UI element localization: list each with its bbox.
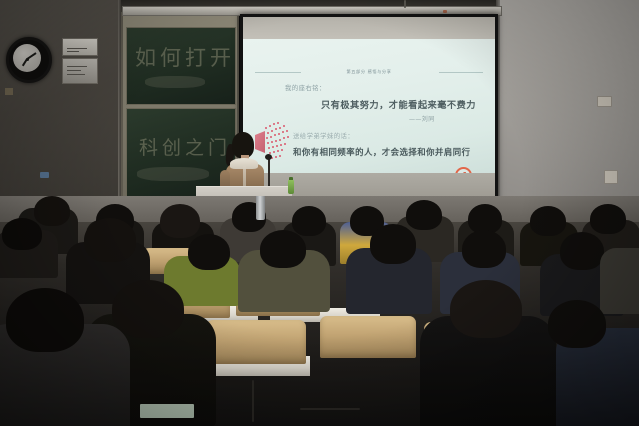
student-head [560, 232, 604, 270]
student-head [34, 196, 70, 226]
desk-cable [300, 408, 360, 410]
chalk-text-upper: 如何打开 [135, 42, 235, 72]
student-head [112, 280, 184, 338]
seat-back [320, 316, 416, 358]
slide-content: 第五部分 感悟与分享 我的座右铭： 只有极其努力，才能看起来毫不费力 ——刘同 … [243, 39, 495, 173]
housing-cable [404, 0, 406, 8]
right-wall [498, 0, 639, 214]
left-wall [0, 0, 120, 216]
wall-clock [6, 37, 52, 83]
clock-face [13, 44, 41, 72]
thermos-bottle [256, 196, 265, 220]
blackboard-panel-upper: 如何打开 [126, 27, 236, 105]
student-head [260, 230, 306, 268]
student-head [590, 204, 626, 234]
student-head [2, 218, 42, 250]
seat-back [206, 320, 306, 364]
student-head [548, 300, 606, 348]
student-body [600, 248, 639, 314]
audience-area [0, 196, 639, 426]
slide-attribution: ——刘同 [409, 114, 435, 123]
lecture-hall-photo: 如何打开 科创之门 第五部分 感悟与分享 我的座右铭： 只有极其努力，才能看起来… [0, 0, 639, 426]
paper-sheet [140, 404, 194, 418]
clock-center-pin [26, 58, 29, 61]
slide-section-header: 第五部分 感悟与分享 [299, 69, 439, 75]
slide-motto-label: 我的座右铭： [285, 83, 326, 92]
slide-quote: 只有极其努力，才能看起来毫不费力 [321, 97, 476, 111]
wall-notice-box-upper [62, 38, 98, 56]
water-bottle [288, 180, 294, 194]
screen-dim-top [243, 17, 495, 39]
projection-surface: 第五部分 感悟与分享 我的座右铭： 只有极其努力，才能看起来毫不费力 ——刘同 … [243, 17, 495, 203]
housing-indicator [443, 10, 447, 13]
wall-outlet-upper [597, 96, 612, 107]
student-head [450, 280, 522, 338]
presenter [218, 132, 274, 192]
wall-sticker [5, 88, 13, 95]
student-head [530, 206, 566, 236]
student-head [84, 218, 136, 262]
projection-screen: 第五部分 感悟与分享 我的座右铭： 只有极其努力，才能看起来毫不费力 ——刘同 … [240, 14, 498, 206]
slide-advice-text: 和你有相同频率的人，才会选择和你并肩同行 [293, 146, 471, 158]
student-head [462, 230, 506, 268]
microphone-head [265, 154, 272, 160]
slide-rule-left [255, 72, 301, 73]
student-head [292, 206, 326, 236]
slide-advice-label: 送给学弟学妹的话： [293, 131, 354, 140]
wall-outlet-lower [604, 170, 618, 184]
slide-rule-right [439, 72, 483, 73]
student-head [406, 200, 442, 230]
microphone-stand [268, 158, 270, 188]
wall-notice-box-lower [62, 58, 98, 84]
light-switch[interactable] [40, 172, 49, 178]
student-head [370, 224, 416, 264]
student-head [188, 234, 230, 270]
student-head [160, 204, 200, 238]
student-head [6, 288, 84, 352]
earphone-cable [252, 380, 254, 422]
